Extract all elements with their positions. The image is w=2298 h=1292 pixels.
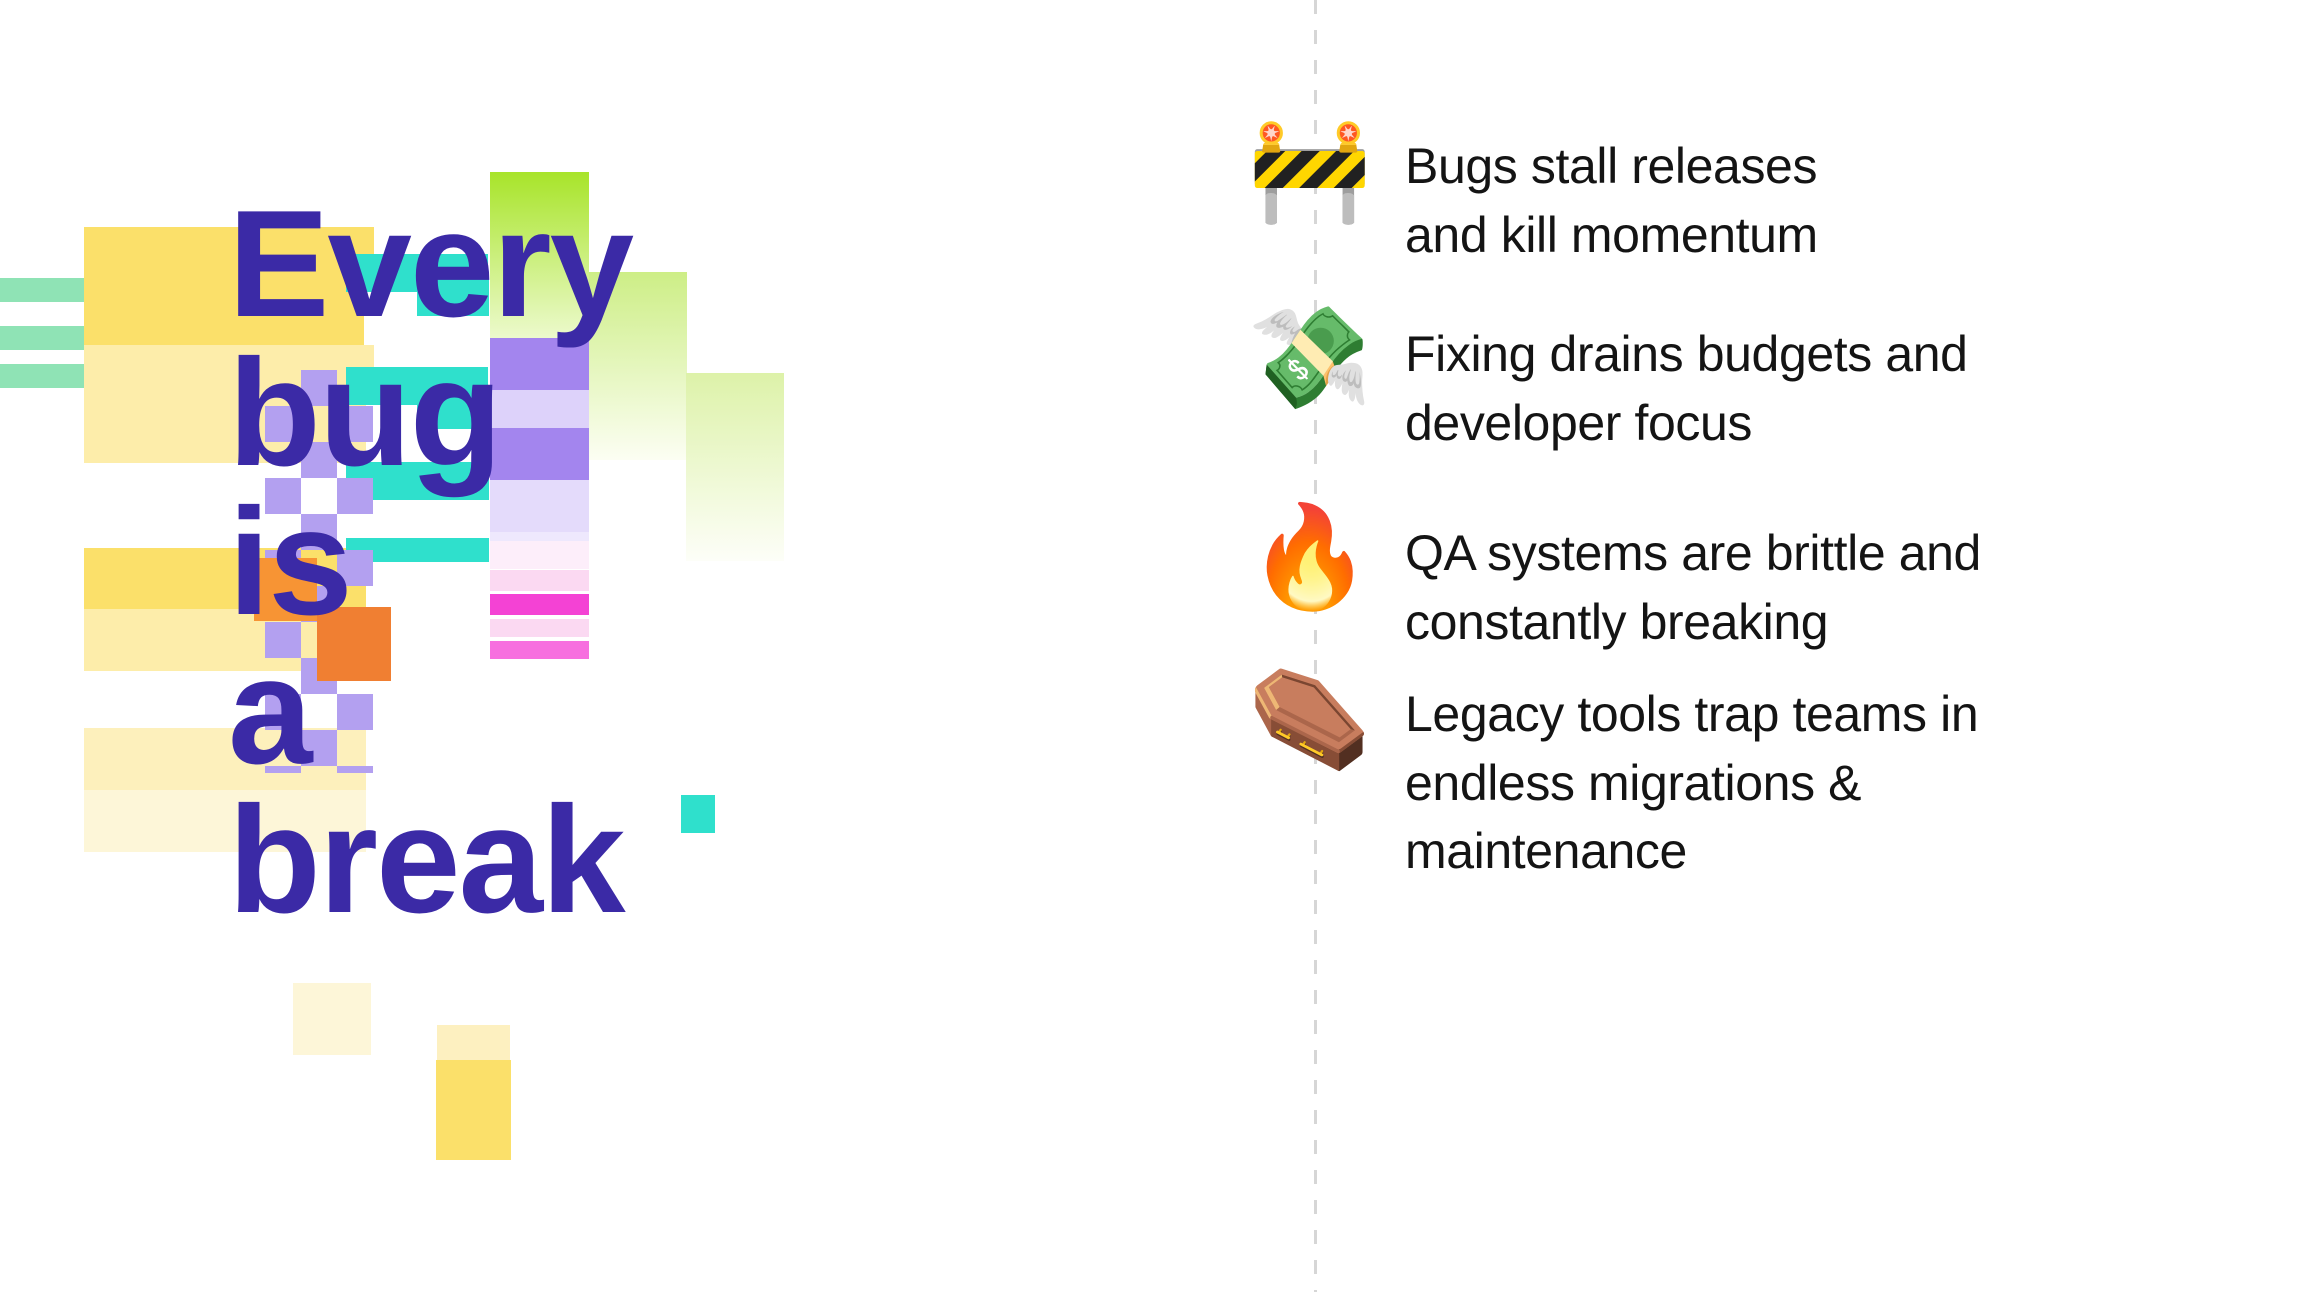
purple-bar — [490, 428, 589, 480]
magenta-bar — [490, 594, 589, 615]
slide-canvas: Every bug is a break 🚧 Bugs stall releas… — [0, 0, 2298, 1292]
list-item-label: Legacy tools trap teams in endless migra… — [1405, 668, 2215, 886]
yellow-bar — [84, 790, 366, 852]
cyan-bar — [417, 391, 489, 429]
typographic-collage: Every bug is a break — [0, 0, 1180, 1292]
list-item[interactable]: 🚧 Bugs stall releases and kill momentum — [1215, 120, 2215, 269]
mint-bar — [0, 364, 86, 388]
construction-barrier-icon: 🚧 — [1215, 120, 1405, 220]
list-item[interactable]: ⚰️ Legacy tools trap teams in endless mi… — [1215, 668, 2215, 886]
yellow-bar — [84, 227, 374, 286]
lime-gradient-square — [686, 373, 784, 561]
list-item-label: Fixing drains budgets and developer focu… — [1405, 308, 2215, 457]
pink-bar — [490, 619, 589, 637]
purple-bar — [490, 338, 589, 390]
yellow-square — [436, 1060, 511, 1160]
list-item-label: QA systems are brittle and constantly br… — [1405, 507, 2215, 656]
list-item[interactable]: 💸 Fixing drains budgets and developer fo… — [1215, 308, 2215, 457]
purple-bar — [490, 480, 589, 532]
orange-square — [254, 558, 317, 621]
pink-bar — [490, 541, 589, 569]
money-with-wings-icon: 💸 — [1215, 308, 1405, 408]
pink-bar — [490, 570, 589, 591]
list-item[interactable]: 🔥 QA systems are brittle and constantly … — [1215, 507, 2215, 656]
cyan-bar — [417, 278, 489, 316]
coffin-icon: ⚰️ — [1215, 668, 1405, 768]
magenta-bar — [490, 641, 589, 659]
cyan-bar — [681, 795, 715, 833]
lime-gradient-square — [589, 272, 687, 460]
yellow-square — [293, 983, 371, 1055]
list-item-label: Bugs stall releases and kill momentum — [1405, 120, 2215, 269]
yellow-bar — [84, 286, 364, 345]
fire-icon: 🔥 — [1215, 507, 1405, 607]
lime-gradient-square — [490, 172, 589, 362]
orange-square — [317, 607, 391, 681]
mint-bar — [0, 326, 86, 350]
mint-bar — [0, 278, 86, 302]
